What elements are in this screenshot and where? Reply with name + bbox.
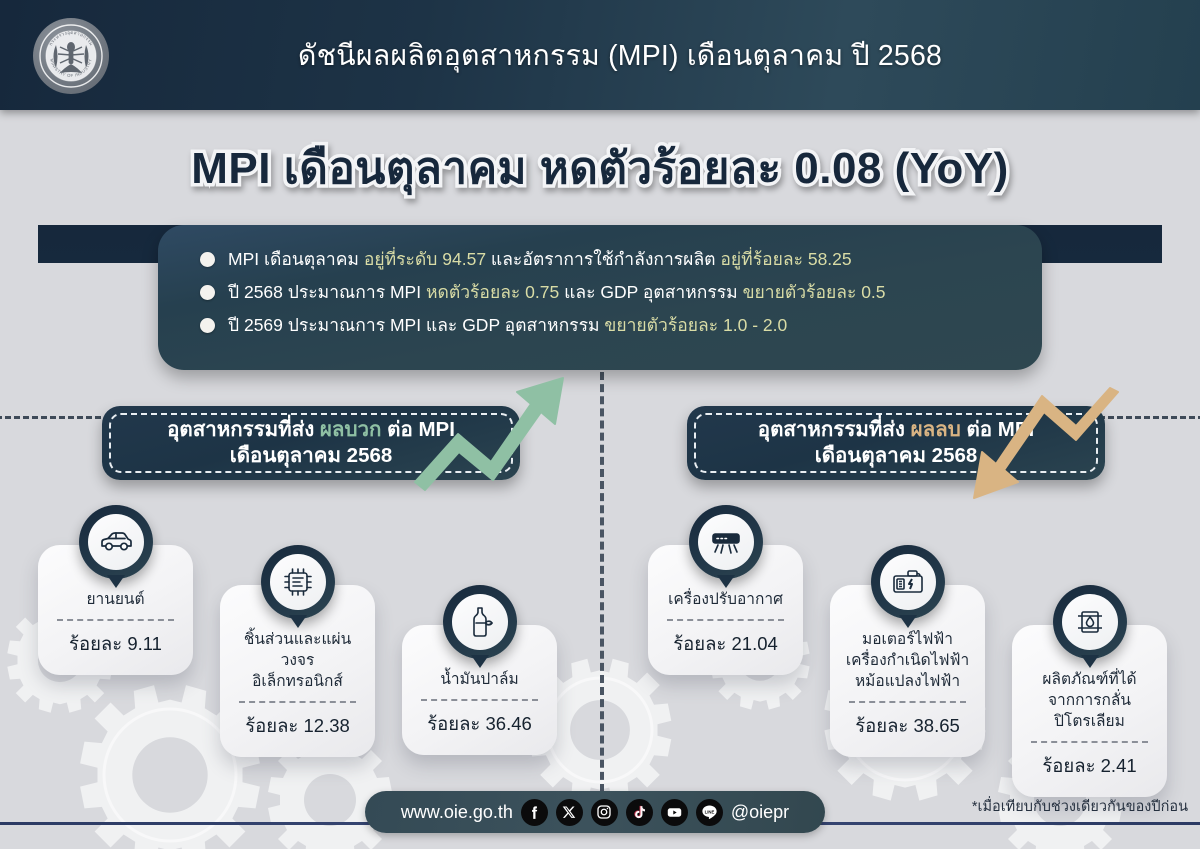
oil-barrel-icon	[1072, 604, 1108, 640]
summary-panel: MPI เดือนตุลาคม อยู่ที่ระดับ 94.57 และอั…	[158, 225, 1042, 370]
card-divider	[667, 619, 784, 621]
list-item: ปี 2568 ประมาณการ MPI หดตัวร้อยละ 0.75 แ…	[200, 280, 1022, 304]
footer-contact-bar: www.oie.go.th LINE @oiepr	[365, 791, 825, 833]
card-icon-badge	[261, 545, 335, 619]
list-item: MPI เดือนตุลาคม อยู่ที่ระดับ 94.57 และอั…	[200, 247, 1022, 271]
youtube-icon[interactable]	[661, 799, 688, 826]
bottle-icon	[462, 604, 498, 640]
industry-card[interactable]: ยานยนต์ ร้อยละ 9.11	[38, 545, 193, 675]
card-divider	[421, 699, 538, 701]
chip-icon	[280, 564, 316, 600]
svg-text:LINE: LINE	[705, 809, 715, 814]
page-title: ดัชนีผลผลิตอุตสาหกรรม (MPI) เดือนตุลาคม …	[0, 0, 1200, 110]
section-title-line1: อุตสาหกรรมที่ส่ง ผลลบ ต่อ MPI	[758, 417, 1034, 443]
page-header: กระทรวงอุตสาหกรรม MINISTRY OF INDUSTRY ด…	[0, 0, 1200, 110]
website-url[interactable]: www.oie.go.th	[401, 802, 513, 823]
section-title-line2: เดือนตุลาคม 2568	[815, 443, 978, 469]
bullet-dot-icon	[200, 285, 215, 300]
card-label: ผลิตภัณฑ์ที่ได้จากการกลั่นปิโตรเลียม	[1021, 669, 1158, 732]
industry-card[interactable]: ชิ้นส่วนและแผ่นวงจรอิเล็กทรอนิกส์ ร้อยละ…	[220, 585, 375, 757]
summary-bullet-list: MPI เดือนตุลาคม อยู่ที่ระดับ 94.57 และอั…	[200, 247, 1022, 346]
social-handle[interactable]: @oiepr	[731, 802, 789, 823]
card-value: ร้อยละ 9.11	[47, 630, 184, 659]
industry-card[interactable]: มอเตอร์ไฟฟ้าเครื่องกำเนิดไฟฟ้าหม้อแปลงไฟ…	[830, 585, 985, 757]
card-label: เครื่องปรับอากาศ	[657, 589, 794, 610]
card-label: มอเตอร์ไฟฟ้าเครื่องกำเนิดไฟฟ้าหม้อแปลงไฟ…	[839, 629, 976, 692]
generator-icon	[890, 564, 926, 600]
bullet-dot-icon	[200, 318, 215, 333]
bullet-text: ปี 2569 ประมาณการ MPI และ GDP อุตสาหกรรม…	[228, 313, 787, 337]
card-label: น้ำมันปาล์ม	[411, 669, 548, 690]
footnote: *เมื่อเทียบกับช่วงเดียวกันของปีก่อน	[972, 795, 1188, 818]
card-label: ยานยนต์	[47, 589, 184, 610]
instagram-icon[interactable]	[591, 799, 618, 826]
summary-ribbon: MPI เดือนตุลาคม อยู่ที่ระดับ 94.57 และอั…	[0, 225, 1200, 370]
x-icon[interactable]	[556, 799, 583, 826]
industry-card[interactable]: น้ำมันปาล์ม ร้อยละ 36.46	[402, 625, 557, 755]
card-icon-badge	[443, 585, 517, 659]
air-conditioner-icon	[708, 524, 744, 560]
headline: MPI เดือนตุลาคม หดตัวร้อยละ 0.08 (YoY)	[0, 133, 1200, 203]
card-divider	[1031, 741, 1148, 743]
divider-line-center	[600, 372, 604, 792]
line-icon[interactable]: LINE	[696, 799, 723, 826]
industry-card[interactable]: ผลิตภัณฑ์ที่ได้จากการกลั่นปิโตรเลียม ร้อ…	[1012, 625, 1167, 797]
tiktok-icon[interactable]	[626, 799, 653, 826]
car-icon	[98, 524, 134, 560]
card-divider	[849, 701, 966, 703]
card-value: ร้อยละ 21.04	[657, 630, 794, 659]
section-title-line1: อุตสาหกรรมที่ส่ง ผลบวก ต่อ MPI	[167, 417, 455, 443]
section-header-negative: อุตสาหกรรมที่ส่ง ผลลบ ต่อ MPI เดือนตุลาค…	[687, 406, 1105, 480]
card-divider	[239, 701, 356, 703]
card-icon-badge	[79, 505, 153, 579]
card-value: ร้อยละ 2.41	[1021, 752, 1158, 781]
section-header-positive: อุตสาหกรรมที่ส่ง ผลบวก ต่อ MPI เดือนตุลา…	[102, 406, 520, 480]
card-value: ร้อยละ 38.65	[839, 712, 976, 741]
bullet-text: ปี 2568 ประมาณการ MPI หดตัวร้อยละ 0.75 แ…	[228, 280, 886, 304]
card-label: ชิ้นส่วนและแผ่นวงจรอิเล็กทรอนิกส์	[229, 629, 366, 692]
list-item: ปี 2569 ประมาณการ MPI และ GDP อุตสาหกรรม…	[200, 313, 1022, 337]
card-divider	[57, 619, 174, 621]
bullet-text: MPI เดือนตุลาคม อยู่ที่ระดับ 94.57 และอั…	[228, 247, 852, 271]
industry-card[interactable]: เครื่องปรับอากาศ ร้อยละ 21.04	[648, 545, 803, 675]
card-icon-badge	[1053, 585, 1127, 659]
card-value: ร้อยละ 36.46	[411, 710, 548, 739]
card-value: ร้อยละ 12.38	[229, 712, 366, 741]
card-icon-badge	[871, 545, 945, 619]
card-icon-badge	[689, 505, 763, 579]
section-title-line2: เดือนตุลาคม 2568	[230, 443, 393, 469]
facebook-icon[interactable]	[521, 799, 548, 826]
bullet-dot-icon	[200, 252, 215, 267]
